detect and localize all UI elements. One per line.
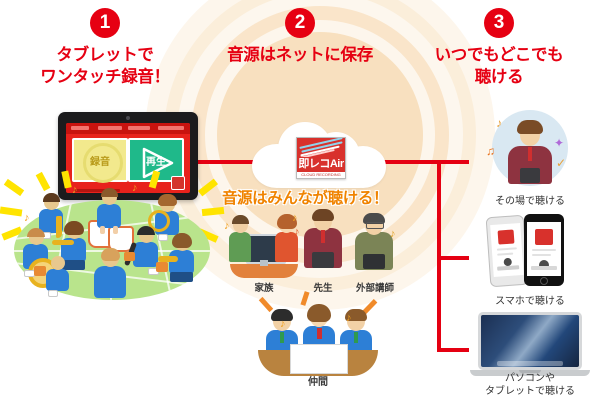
sheet-of-paper xyxy=(290,344,348,374)
burst-ray xyxy=(36,172,51,191)
chair xyxy=(156,262,168,272)
brass-band-scene: ♪ ♪ ♪ xyxy=(0,178,222,308)
device-caption-pc: パソコンや タブレットで聴ける xyxy=(470,373,590,398)
music-note-icon: ♫ xyxy=(486,144,495,158)
step-3-header: 3 いつでもどこでも 聴ける xyxy=(408,8,590,89)
music-note-icon: ♪ xyxy=(72,184,78,196)
smartphone-icon xyxy=(524,214,564,286)
chair xyxy=(124,252,135,261)
play-button-label: 再生 xyxy=(130,153,182,168)
step-title-2: 音源はネットに保存 xyxy=(215,45,385,67)
burst-ray xyxy=(4,179,24,196)
bracket-branch-1 xyxy=(437,160,469,164)
sparkle-icon: ✦ xyxy=(554,136,564,150)
music-note-icon: ♪ xyxy=(496,116,502,130)
record-button-label: 録音 xyxy=(74,153,126,168)
device-listen-on-smartphone: スマホで聴ける xyxy=(470,212,590,308)
check-icon: ✓ xyxy=(556,156,566,170)
step-2-header: 2 音源はネットに保存 xyxy=(215,8,385,67)
infographic-canvas: 1 タブレットで ワンタッチ録音！ 2 音源はネットに保存 3 いつでもどこでも… xyxy=(0,0,600,400)
tablet-icon xyxy=(363,254,385,269)
service-logo-subtitle: CLOUD RECORDING SERVICE xyxy=(297,172,345,179)
bracket-branch-3 xyxy=(437,348,469,352)
band-member xyxy=(92,250,128,302)
step-title-1: タブレットで ワンタッチ録音！ xyxy=(20,45,190,89)
step-1-header: 1 タブレットで ワンタッチ録音！ xyxy=(20,8,190,89)
listener-label-lecturer: 外部講師 xyxy=(356,280,394,294)
listener-teacher: ♪ 先生 xyxy=(294,210,352,294)
tablet-app-topbar xyxy=(66,123,190,134)
band-member xyxy=(166,234,198,284)
tablet-camera-icon xyxy=(126,116,130,120)
person-with-tablet-icon xyxy=(506,120,554,184)
step-number-badge-1: 1 xyxy=(90,8,120,38)
friends-group: ♪ ♪ 仲間 xyxy=(252,298,384,390)
burst-ray xyxy=(0,207,22,217)
device-caption-smartphone: スマホで聴ける xyxy=(470,296,590,309)
glasses-icon xyxy=(366,222,384,229)
step-title-3: いつでもどこでも 聴ける xyxy=(408,45,590,89)
friends-label: 仲間 xyxy=(252,373,384,388)
tablet-icon xyxy=(312,252,334,268)
music-note-icon: ♪ xyxy=(132,182,138,194)
person-father xyxy=(226,216,254,264)
music-note-icon: ♪ xyxy=(280,318,286,330)
necktie xyxy=(321,230,325,243)
music-note-icon: ♪ xyxy=(294,226,300,238)
logo-swoosh-art xyxy=(297,138,345,157)
listeners-group: ♪ ♪ 家族 ♪ 先生 ♪ 外部講師 xyxy=(222,208,407,294)
music-note-icon: ♪ xyxy=(24,212,30,224)
trombone xyxy=(52,240,74,245)
service-logo-name: 即レコAir xyxy=(297,157,345,171)
cloud-caption: 音源はみんなが聴ける！ xyxy=(205,186,405,208)
device-listen-on-pc: パソコンや タブレットで聴ける xyxy=(470,310,590,398)
step-number-badge-2: 2 xyxy=(285,8,315,38)
table xyxy=(230,264,298,278)
music-note-icon: ♪ xyxy=(390,228,396,240)
monitor-stand xyxy=(260,260,268,266)
band-member xyxy=(44,256,72,296)
service-logo-footer: CLOUD RECORDING SERVICE xyxy=(297,172,345,178)
band-member xyxy=(94,190,124,232)
record-button[interactable]: 録音 xyxy=(72,138,128,182)
laptop-dock xyxy=(497,361,564,366)
android-phone-icon xyxy=(486,215,529,287)
laptop-icon xyxy=(478,312,582,370)
listener-label-family: 家族 xyxy=(254,280,273,294)
person-hair xyxy=(312,209,334,221)
listener-label-teacher: 先生 xyxy=(313,280,332,294)
listener-lecturer: ♪ 外部講師 xyxy=(346,214,404,294)
music-note-icon: ♪ xyxy=(224,220,230,232)
bracket-branch-2 xyxy=(437,256,469,260)
device-listen-on-spot: ♪ ♫ ✦ ✓ その場で聴ける xyxy=(470,110,590,208)
chair xyxy=(34,266,46,276)
step-number-badge-3: 3 xyxy=(484,8,514,38)
device-caption-on-spot: その場で聴ける xyxy=(470,196,590,209)
laptop-screen xyxy=(481,315,579,367)
service-logo: 即レコAir CLOUD RECORDING SERVICE xyxy=(296,137,346,179)
music-note-icon: ♪ xyxy=(346,312,352,324)
